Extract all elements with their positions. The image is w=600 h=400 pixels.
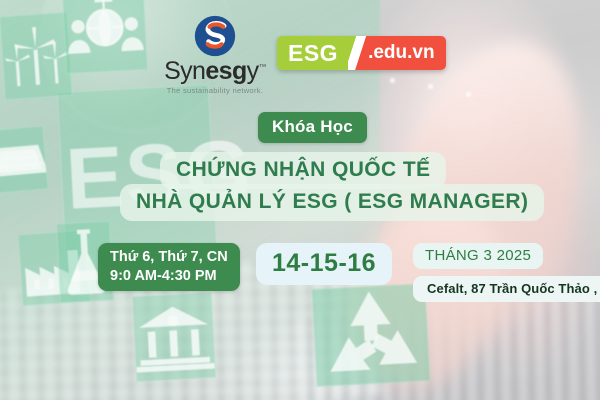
logo-text-y: y xyxy=(247,57,259,85)
dates-badge: 14-15-16 xyxy=(256,243,392,285)
schedule-days: Thứ 6, Thứ 7, CN xyxy=(110,248,228,267)
synesgy-logo: Synesgy™ The sustainability network. xyxy=(156,14,274,95)
schedule-time: 9:0 AM-4:30 PM xyxy=(110,267,228,286)
month-year-badge: THÁNG 3 2025 xyxy=(413,243,543,269)
logo-trademark: ™ xyxy=(259,63,266,72)
schedule-badge: Thứ 6, Thứ 7, CN 9:0 AM-4:30 PM xyxy=(98,243,240,291)
logo-text-syn: Syn xyxy=(164,57,205,85)
venue-address-badge: Cefalt, 87 Trần Quốc Thảo , Q.3 xyxy=(413,276,600,302)
esg-badge-right-text: .edu.vn xyxy=(366,36,446,70)
course-title-line-2: NHÀ QUẢN LÝ ESG ( ESG MANAGER) xyxy=(120,184,544,221)
course-poster: ESG Synesgy™ The sustainability network.… xyxy=(0,0,600,400)
synesgy-tagline: The sustainability network. xyxy=(156,86,274,95)
synesgy-wordmark: Synesgy™ xyxy=(156,59,274,84)
logo-text-esg: esg xyxy=(205,57,246,85)
course-kicker-badge: Khóa Học xyxy=(258,112,367,143)
esg-edu-vn-badge: ESG .edu.vn xyxy=(277,36,446,70)
esg-badge-left-text: ESG xyxy=(277,36,348,70)
esg-badge-slash-icon xyxy=(348,36,366,70)
synesgy-s-mark xyxy=(193,14,237,58)
